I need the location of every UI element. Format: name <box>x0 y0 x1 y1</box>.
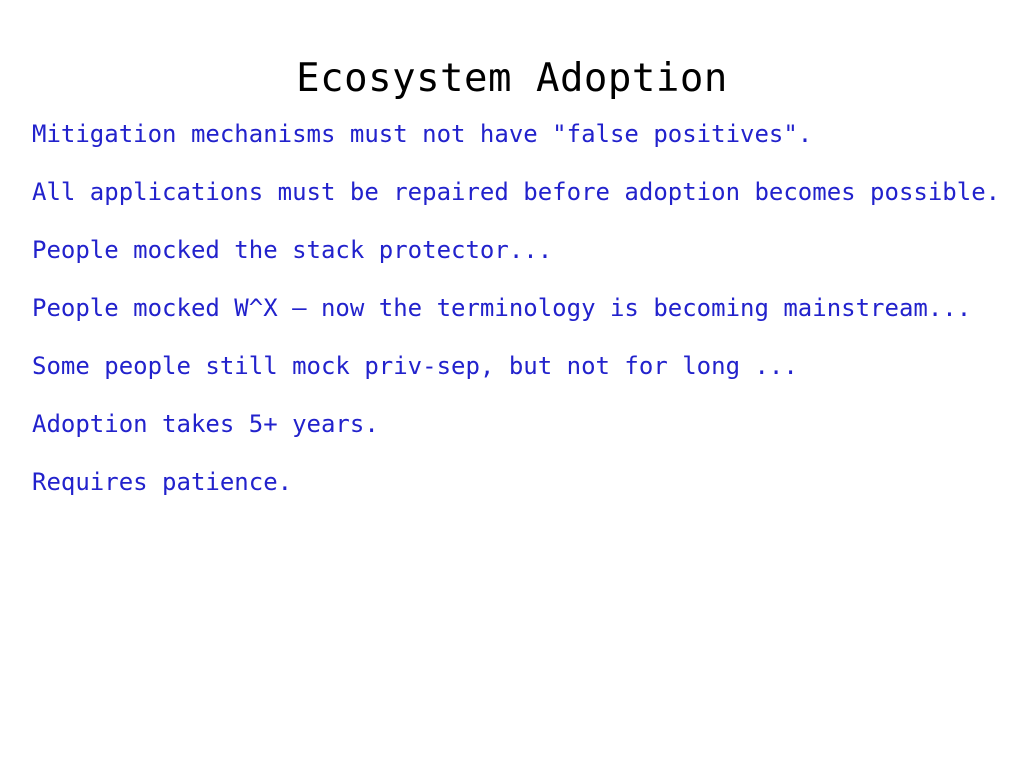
bullet-line-3: People mocked the stack protector... <box>32 238 1000 262</box>
page-title: Ecosystem Adoption <box>0 56 1024 102</box>
bullet-line-6: Adoption takes 5+ years. <box>32 412 1000 436</box>
bullet-line-2: All applications must be repaired before… <box>32 180 1000 204</box>
slide-body: Mitigation mechanisms must not have "fal… <box>32 122 1000 494</box>
bullet-line-4: People mocked W^X – now the terminology … <box>32 296 1000 320</box>
bullet-line-1: Mitigation mechanisms must not have "fal… <box>32 122 1000 146</box>
presentation-slide: Ecosystem Adoption Mitigation mechanisms… <box>0 0 1024 768</box>
bullet-line-7: Requires patience. <box>32 470 1000 494</box>
bullet-line-5: Some people still mock priv-sep, but not… <box>32 354 1000 378</box>
